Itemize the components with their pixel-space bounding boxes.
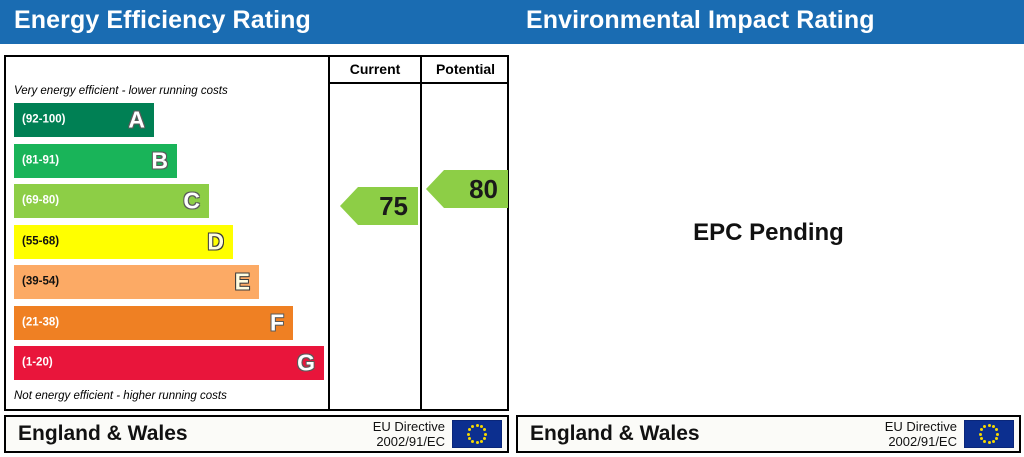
footer-region-label: England & Wales <box>18 422 188 446</box>
eu-flag-star <box>980 437 983 440</box>
eu-flag-star <box>476 441 479 444</box>
eu-flag-star <box>992 440 995 443</box>
energy-band-letter-a: A <box>128 109 145 132</box>
column-divider-potential <box>420 57 422 409</box>
eu-flag-star <box>467 433 470 436</box>
eu-flag-star <box>468 428 471 431</box>
energy-efficiency-footer: England & Wales EU Directive 2002/91/EC <box>4 415 509 453</box>
energy-band-range-e: (39-54) <box>22 276 59 288</box>
column-header-rule <box>328 82 509 84</box>
current-rating-value: 75 <box>379 193 408 219</box>
eu-flag-star <box>468 437 471 440</box>
footer-directive-label: EU Directive 2002/91/EC <box>885 419 957 449</box>
environmental-impact-header: Environmental Impact Rating <box>512 0 1024 44</box>
energy-band-range-b: (81-91) <box>22 155 59 167</box>
energy-band-range-g: (1-20) <box>22 357 53 369</box>
eu-flag-star <box>995 437 998 440</box>
eu-flag-star <box>484 433 487 436</box>
energy-band-letter-d: D <box>207 230 224 253</box>
eu-flag-icon <box>964 420 1014 448</box>
eu-flag-star <box>988 441 991 444</box>
energy-band-letter-g: G <box>297 352 315 375</box>
current-rating-arrow: 75 <box>340 187 418 225</box>
eu-flag-star <box>979 433 982 436</box>
energy-band-letter-c: C <box>183 190 200 213</box>
eu-flag-star <box>471 425 474 428</box>
footer-directive-line2: 2002/91/EC <box>373 434 445 449</box>
caption-very-efficient: Very energy efficient - lower running co… <box>14 85 228 97</box>
epc-certificate-graphic: Energy Efficiency Rating Very energy eff… <box>0 0 1024 457</box>
energy-band-e: (39-54)E <box>14 265 259 299</box>
potential-rating-value: 80 <box>469 176 498 202</box>
energy-efficiency-panel: Energy Efficiency Rating Very energy eff… <box>0 0 512 457</box>
footer-region-label: England & Wales <box>530 422 700 446</box>
eu-flag-star <box>983 440 986 443</box>
energy-band-a: (92-100)A <box>14 103 154 137</box>
eu-flag-star <box>996 433 999 436</box>
caption-not-efficient: Not energy efficient - higher running co… <box>14 390 227 402</box>
energy-band-letter-e: E <box>235 271 250 294</box>
eu-flag-star <box>480 440 483 443</box>
footer-directive-line2: 2002/91/EC <box>885 434 957 449</box>
eu-flag-star <box>980 428 983 431</box>
column-divider-current <box>328 57 330 409</box>
footer-directive-line1: EU Directive <box>885 419 957 434</box>
energy-band-range-c: (69-80) <box>22 195 59 207</box>
energy-band-d: (55-68)D <box>14 225 233 259</box>
footer-directive-line1: EU Directive <box>373 419 445 434</box>
energy-band-range-f: (21-38) <box>22 317 59 329</box>
energy-band-range-d: (55-68) <box>22 236 59 248</box>
eu-flag-star <box>483 437 486 440</box>
energy-band-g: (1-20)G <box>14 346 324 380</box>
energy-band-f: (21-38)F <box>14 306 293 340</box>
energy-efficiency-chart-box: Very energy efficient - lower running co… <box>4 55 509 411</box>
energy-band-list: (92-100)A(81-91)B(69-80)C(55-68)D(39-54)… <box>14 103 324 387</box>
epc-pending-message: EPC Pending <box>516 55 1021 411</box>
eu-flag-star <box>988 424 991 427</box>
energy-band-c: (69-80)C <box>14 184 209 218</box>
energy-band-letter-f: F <box>270 311 284 334</box>
eu-flag-star <box>983 425 986 428</box>
energy-band-range-a: (92-100) <box>22 114 65 126</box>
environmental-impact-footer: England & Wales EU Directive 2002/91/EC <box>516 415 1021 453</box>
column-header-potential: Potential <box>422 61 509 77</box>
potential-rating-arrow: 80 <box>426 170 508 208</box>
footer-directive-label: EU Directive 2002/91/EC <box>373 419 445 449</box>
environmental-impact-title: Environmental Impact Rating <box>526 6 875 35</box>
environmental-impact-panel: Environmental Impact Rating EPC Pending … <box>512 0 1024 457</box>
eu-flag-icon <box>452 420 502 448</box>
eu-flag-star <box>471 440 474 443</box>
eu-flag-star <box>995 428 998 431</box>
column-header-current: Current <box>330 61 420 77</box>
eu-flag-star <box>476 424 479 427</box>
energy-band-b: (81-91)B <box>14 144 177 178</box>
energy-efficiency-header: Energy Efficiency Rating <box>0 0 512 44</box>
energy-band-letter-b: B <box>151 149 168 172</box>
eu-flag-star <box>483 428 486 431</box>
energy-efficiency-title: Energy Efficiency Rating <box>14 6 311 35</box>
